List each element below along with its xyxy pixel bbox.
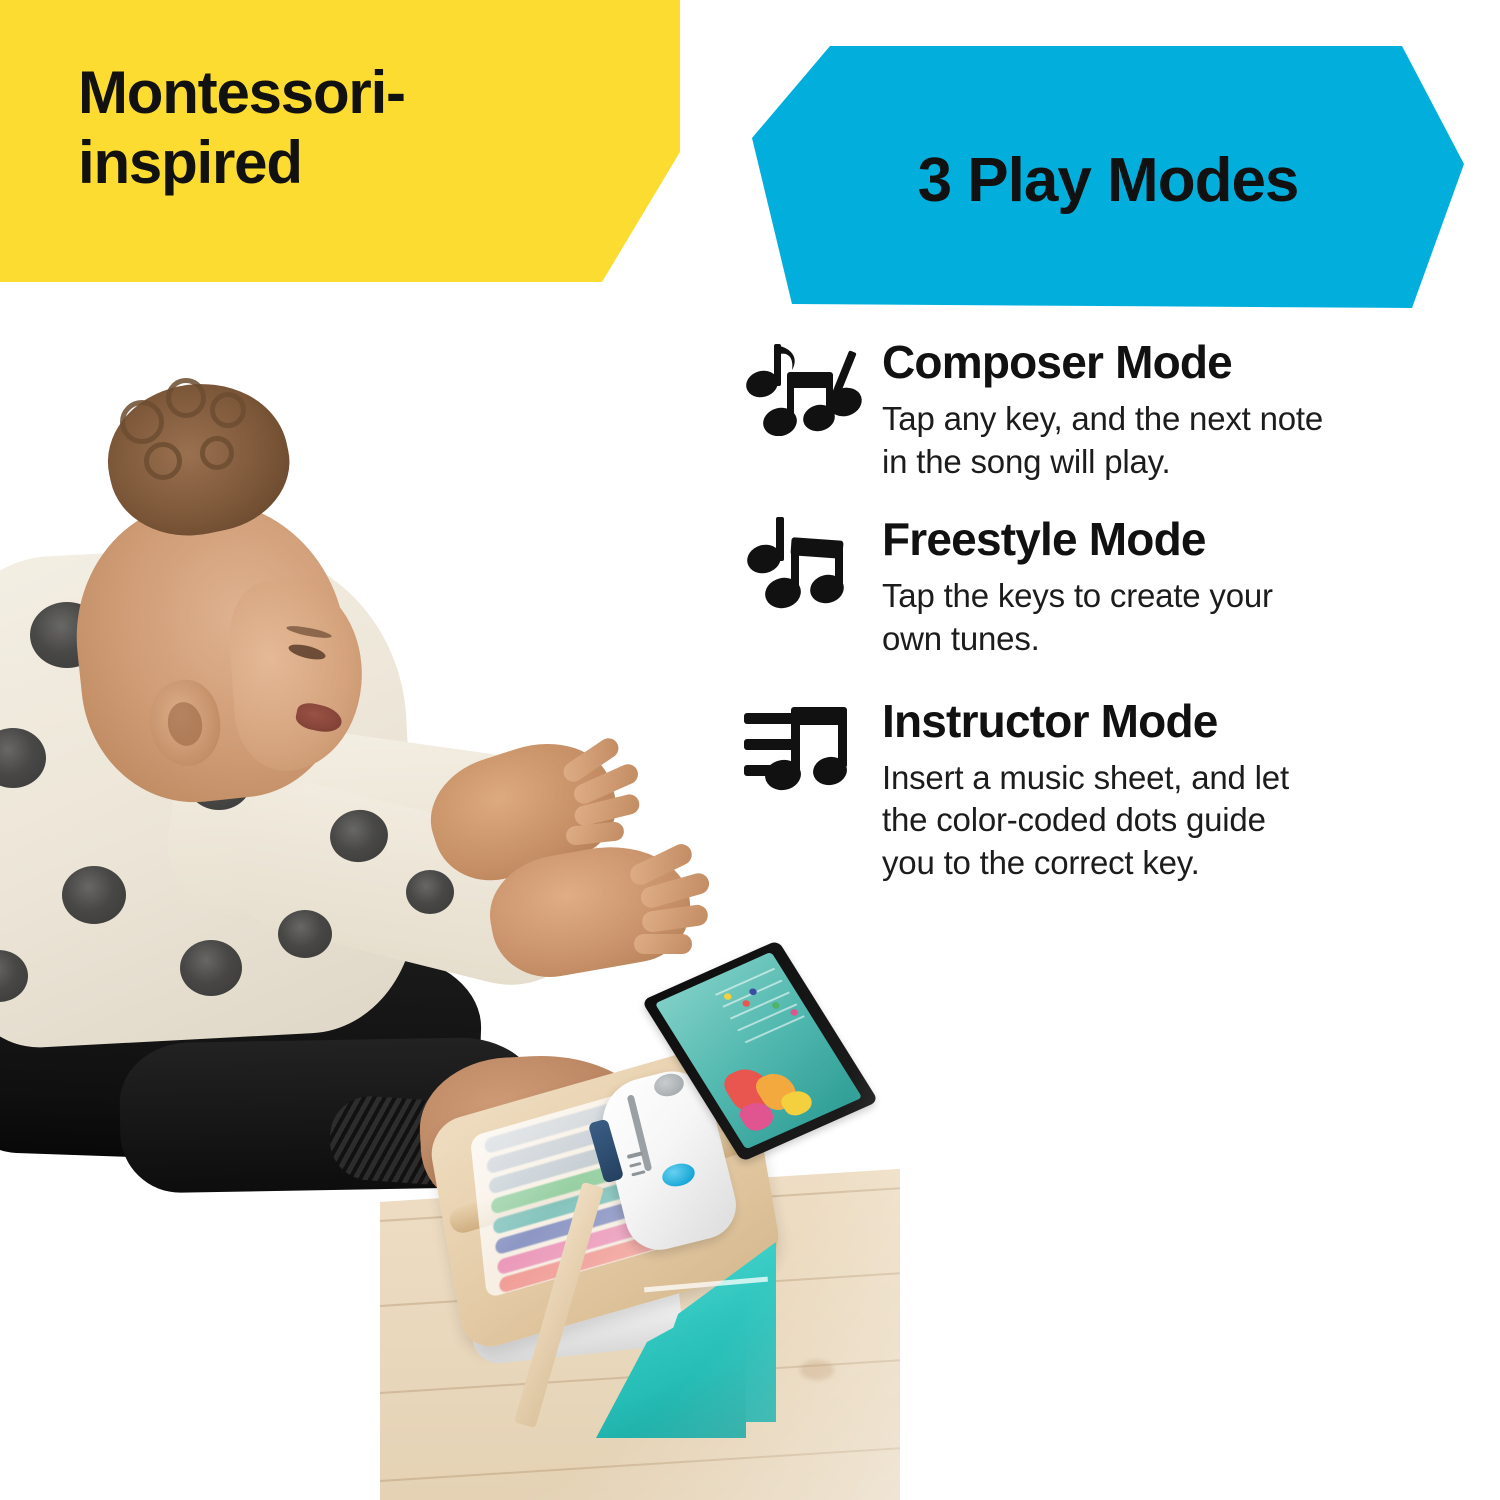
music-notes-triple-icon	[744, 336, 882, 436]
mode-item-freestyle: Freestyle Mode Tap the keys to create yo…	[744, 513, 1484, 660]
mode-text-instructor: Instructor Mode Insert a music sheet, an…	[882, 695, 1484, 885]
music-notes-staff-icon	[744, 695, 882, 795]
mode-text-composer: Composer Mode Tap any key, and the next …	[882, 336, 1484, 483]
montessori-banner: Montessori- inspired	[0, 0, 680, 282]
mode-text-freestyle: Freestyle Mode Tap the keys to create yo…	[882, 513, 1484, 660]
infographic-canvas: Montessori- inspired 3 Play Modes	[0, 0, 1500, 1500]
mode-title: Composer Mode	[882, 338, 1484, 388]
mode-item-composer: Composer Mode Tap any key, and the next …	[744, 336, 1484, 483]
toy-piano	[430, 970, 850, 1490]
mode-title: Freestyle Mode	[882, 515, 1484, 565]
mode-description: Insert a music sheet, and let the color-…	[882, 757, 1484, 886]
mode-item-instructor: Instructor Mode Insert a music sheet, an…	[744, 695, 1484, 885]
mode-description: Tap the keys to create your own tunes.	[882, 575, 1484, 661]
mode-title: Instructor Mode	[882, 697, 1484, 747]
play-modes-list: Composer Mode Tap any key, and the next …	[744, 336, 1484, 885]
music-notes-double-icon	[744, 513, 882, 613]
play-modes-banner-label: 3 Play Modes	[752, 46, 1464, 308]
mode-description: Tap any key, and the next note in the so…	[882, 398, 1484, 484]
play-modes-banner: 3 Play Modes	[752, 46, 1464, 308]
montessori-banner-label: Montessori- inspired	[78, 58, 618, 198]
